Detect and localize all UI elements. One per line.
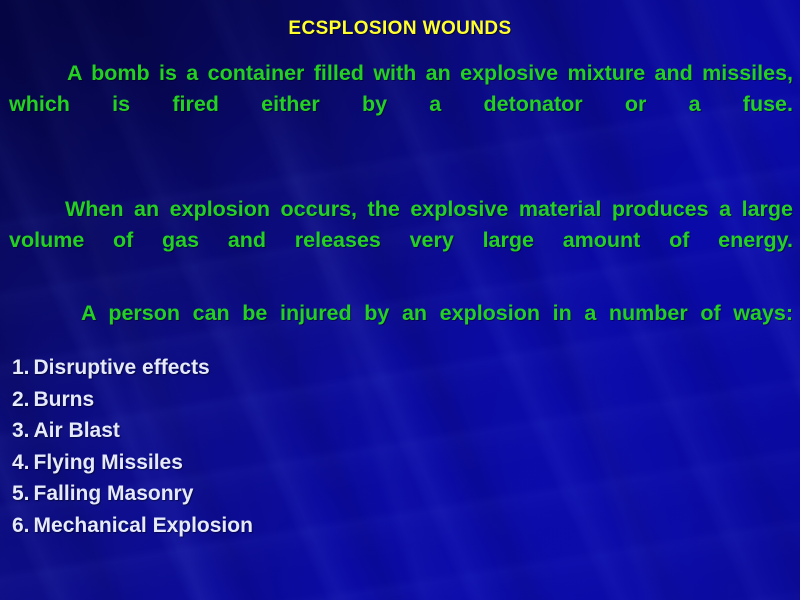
body-paragraph-2: When an explosion occurs, the explosive … bbox=[9, 194, 793, 287]
list-item: 6.Mechanical Explosion bbox=[12, 510, 253, 542]
list-item-number: 2. bbox=[12, 388, 30, 411]
injury-ways-list: 1.Disruptive effects 2.Burns 3.Air Blast… bbox=[12, 352, 253, 541]
slide-title: ECSPLOSION WOUNDS bbox=[0, 19, 800, 38]
list-item: 3.Air Blast bbox=[12, 415, 253, 447]
list-item-number: 4. bbox=[12, 451, 30, 474]
body-paragraph-3: A person can be injured by an explosion … bbox=[9, 298, 793, 360]
slide-content: ECSPLOSION WOUNDS A bomb is a container … bbox=[0, 0, 800, 600]
presentation-slide: ECSPLOSION WOUNDS A bomb is a container … bbox=[0, 0, 800, 600]
list-item-number: 6. bbox=[12, 514, 30, 537]
list-item-label: Mechanical Explosion bbox=[34, 514, 253, 537]
list-item: 4.Flying Missiles bbox=[12, 447, 253, 479]
list-item: 1.Disruptive effects bbox=[12, 352, 253, 384]
paragraph-block-3: A person can be injured by an explosion … bbox=[9, 276, 793, 360]
list-item-label: Burns bbox=[34, 388, 95, 411]
paragraph-block-2: When an explosion occurs, the explosive … bbox=[9, 172, 793, 287]
list-item-number: 1. bbox=[12, 356, 30, 379]
list-item-label: Flying Missiles bbox=[34, 451, 183, 474]
list-item-label: Air Blast bbox=[34, 419, 120, 442]
body-paragraph-1: A bomb is a container filled with an exp… bbox=[9, 58, 793, 151]
list-item-number: 5. bbox=[12, 482, 30, 505]
list-item-label: Disruptive effects bbox=[34, 356, 210, 379]
list-item-label: Falling Masonry bbox=[34, 482, 194, 505]
list-item-number: 3. bbox=[12, 419, 30, 442]
paragraph-block-1: A bomb is a container filled with an exp… bbox=[9, 58, 793, 151]
list-item: 2.Burns bbox=[12, 384, 253, 416]
list-item: 5.Falling Masonry bbox=[12, 478, 253, 510]
